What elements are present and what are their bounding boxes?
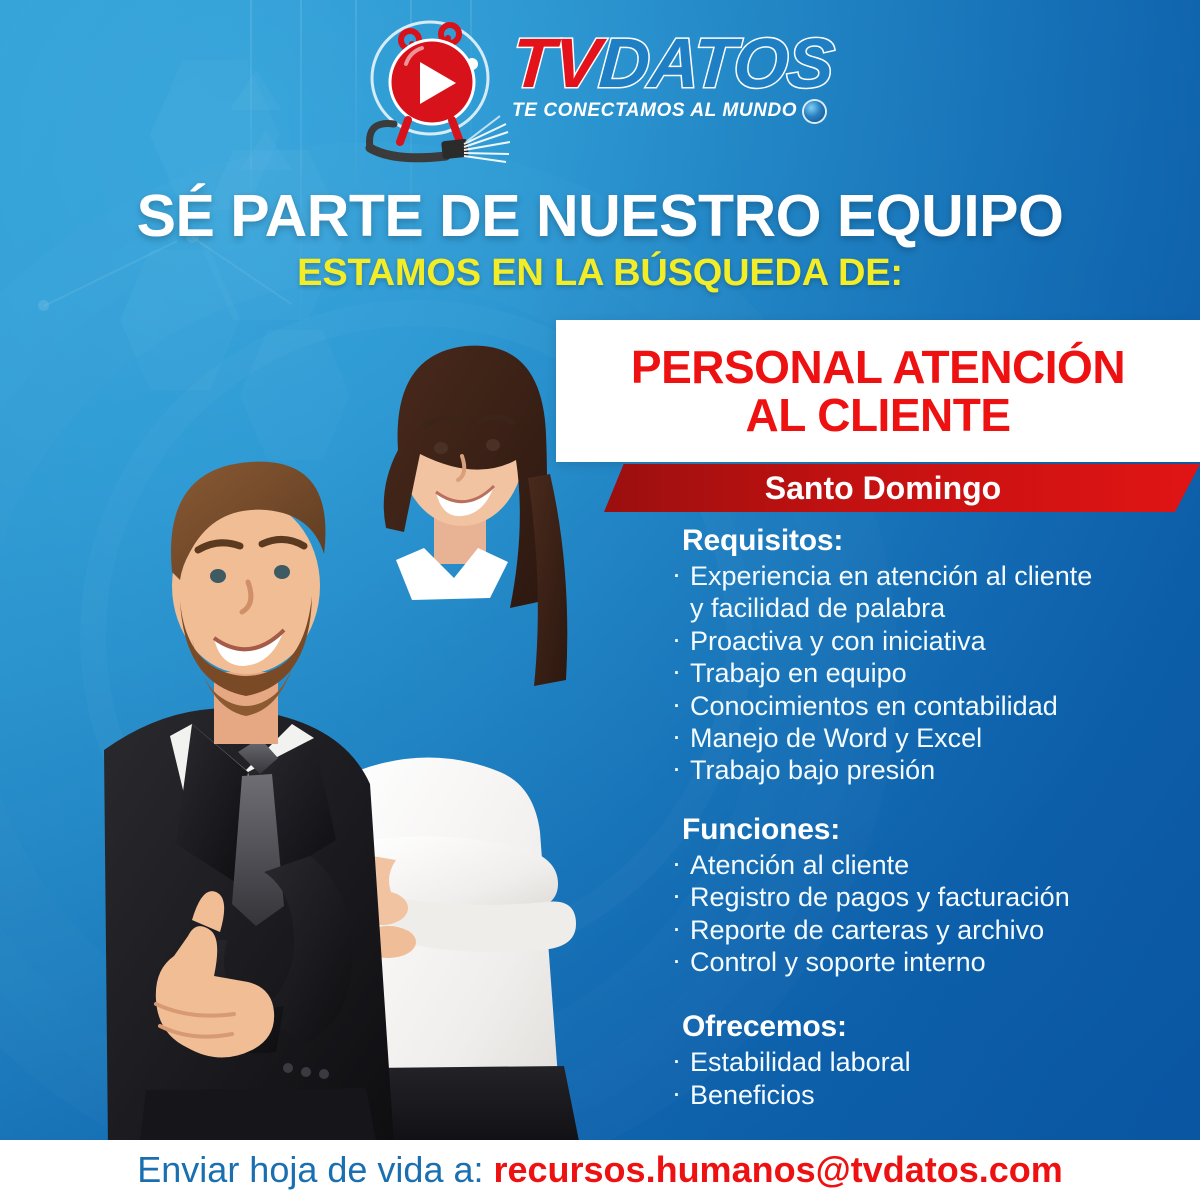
list-item: Conocimientos en contabilidad xyxy=(668,690,1188,722)
list-item: Reporte de carteras y archivo xyxy=(668,914,1188,946)
list-item: Experiencia en atención al cliente y fac… xyxy=(668,560,1188,625)
requisitos-list: Experiencia en atención al cliente y fac… xyxy=(668,560,1188,787)
list-item: Beneficios xyxy=(668,1079,1188,1111)
list-item: Trabajo en equipo xyxy=(668,657,1188,689)
section-heading: Funciones: xyxy=(682,813,1188,847)
job-details: Requisitos: Experiencia en atención al c… xyxy=(668,524,1188,1111)
logo-wordmark: TVDATOS TE CONECTAMOS AL MUNDO xyxy=(512,28,860,122)
location-text: Santo Domingo xyxy=(765,470,1039,507)
logo-word-tv: TV xyxy=(509,24,602,102)
job-title-line-1: PERSONAL ATENCIÓN xyxy=(631,343,1125,391)
list-item: Trabajo bajo presión xyxy=(668,754,1188,786)
job-title-line-2: AL CLIENTE xyxy=(745,391,1010,439)
team-photo xyxy=(42,300,642,1140)
logo-word-datos: DATOS xyxy=(597,24,836,102)
logo-tagline-text: TE CONECTAMOS AL MUNDO xyxy=(512,100,797,122)
page-title: SÉ PARTE DE NUESTRO EQUIPO xyxy=(0,182,1200,250)
footer-label: Enviar hoja de vida a: xyxy=(137,1149,483,1191)
globe-icon xyxy=(804,101,825,122)
list-item: Control y soporte interno xyxy=(668,946,1188,978)
list-item: Registro de pagos y facturación xyxy=(668,881,1188,913)
section-funciones: Funciones: Atención al cliente Registro … xyxy=(668,813,1188,979)
man-figure xyxy=(104,462,394,1140)
location-banner: Santo Domingo xyxy=(604,464,1200,512)
section-ofrecemos: Ofrecemos: Estabilidad laboral Beneficio… xyxy=(668,1010,1188,1111)
ofrecemos-list: Estabilidad laboral Beneficios xyxy=(668,1046,1188,1111)
footer-contact-bar: Enviar hoja de vida a: recursos.humanos@… xyxy=(0,1140,1200,1200)
background-triangle xyxy=(240,130,292,170)
background-triangle xyxy=(230,70,282,110)
tv-character-icon xyxy=(360,16,510,164)
list-item: Atención al cliente xyxy=(668,849,1188,881)
funciones-list: Atención al cliente Registro de pagos y … xyxy=(668,849,1188,979)
brand-logo: TVDATOS TE CONECTAMOS AL MUNDO xyxy=(360,14,860,164)
logo-tagline: TE CONECTAMOS AL MUNDO xyxy=(512,100,860,122)
page-subtitle: ESTAMOS EN LA BÚSQUEDA DE: xyxy=(0,252,1200,295)
section-heading: Requisitos: xyxy=(682,524,1188,558)
section-requisitos: Requisitos: Experiencia en atención al c… xyxy=(668,524,1188,787)
contact-email[interactable]: recursos.humanos@tvdatos.com xyxy=(493,1149,1062,1191)
list-item: Manejo de Word y Excel xyxy=(668,722,1188,754)
list-item: Proactiva y con iniciativa xyxy=(668,625,1188,657)
list-item: Estabilidad laboral xyxy=(668,1046,1188,1078)
job-posting-poster: TVDATOS TE CONECTAMOS AL MUNDO SÉ PARTE … xyxy=(0,0,1200,1200)
section-heading: Ofrecemos: xyxy=(682,1010,1188,1044)
job-title-card: PERSONAL ATENCIÓN AL CLIENTE xyxy=(556,320,1200,462)
